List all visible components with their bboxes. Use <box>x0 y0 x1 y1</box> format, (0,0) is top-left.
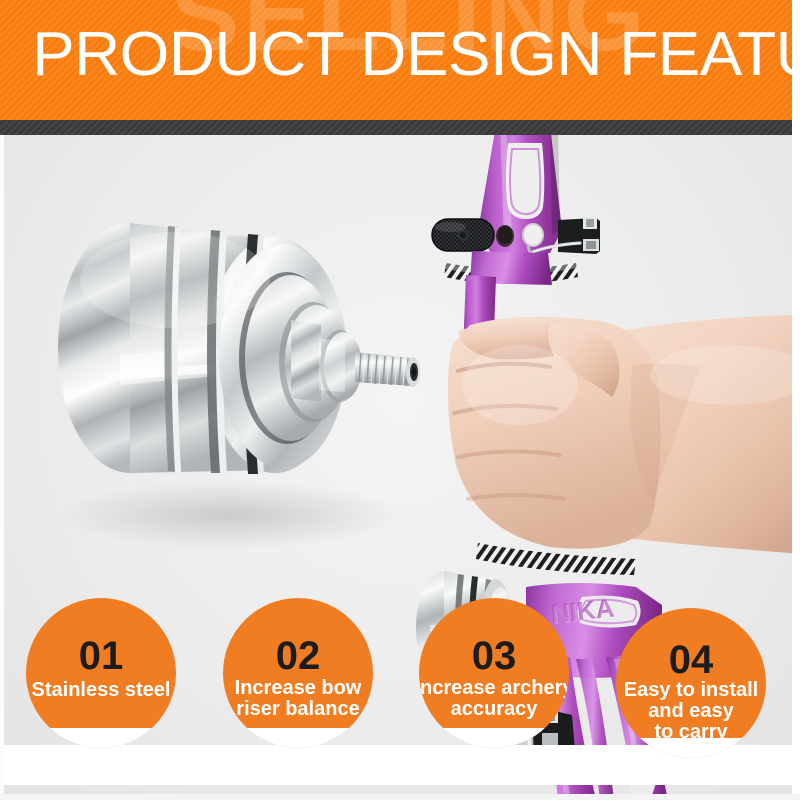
feature-label-01: Stainless steel <box>26 680 176 701</box>
circle-foot-02 <box>223 728 373 748</box>
frame-edge-right <box>792 0 800 800</box>
feature-label-04: Easy to install and easy to carry <box>616 680 766 743</box>
feature-circle-04: 04 Easy to install and easy to carry <box>616 608 766 758</box>
marketing-banner: SELLING PRODUCT DESIGN FEATURES <box>0 0 800 800</box>
frame-edge-bottom <box>0 794 800 800</box>
carbon-fiber-pad <box>432 219 494 251</box>
header-accent-bar <box>0 120 792 135</box>
frame-edge-left <box>0 135 4 800</box>
circle-foot-04 <box>616 738 766 758</box>
feature-label-02: Increase bow riser balance <box>223 678 373 720</box>
stainless-steel-weight-image <box>25 170 445 570</box>
feature-circle-02: 02 Increase bow riser balance <box>223 598 373 748</box>
feature-circle-03: 03 Increase archery accuracy <box>419 598 569 748</box>
header-banner: SELLING PRODUCT DESIGN FEATURES <box>0 0 792 120</box>
feature-number-03: 03 <box>419 636 569 676</box>
feature-number-04: 04 <box>616 640 766 680</box>
circle-foot-01 <box>26 728 176 748</box>
feature-label-03: Increase archery accuracy <box>419 678 569 720</box>
feature-circle-01: 01 Stainless steel <box>26 598 176 748</box>
accent-bar-texture <box>0 120 792 135</box>
feature-number-01: 01 <box>26 636 176 676</box>
page-title: PRODUCT DESIGN FEATURES <box>32 24 792 86</box>
circle-foot-03 <box>419 728 569 748</box>
feature-number-02: 02 <box>223 636 373 676</box>
hand <box>448 315 800 555</box>
